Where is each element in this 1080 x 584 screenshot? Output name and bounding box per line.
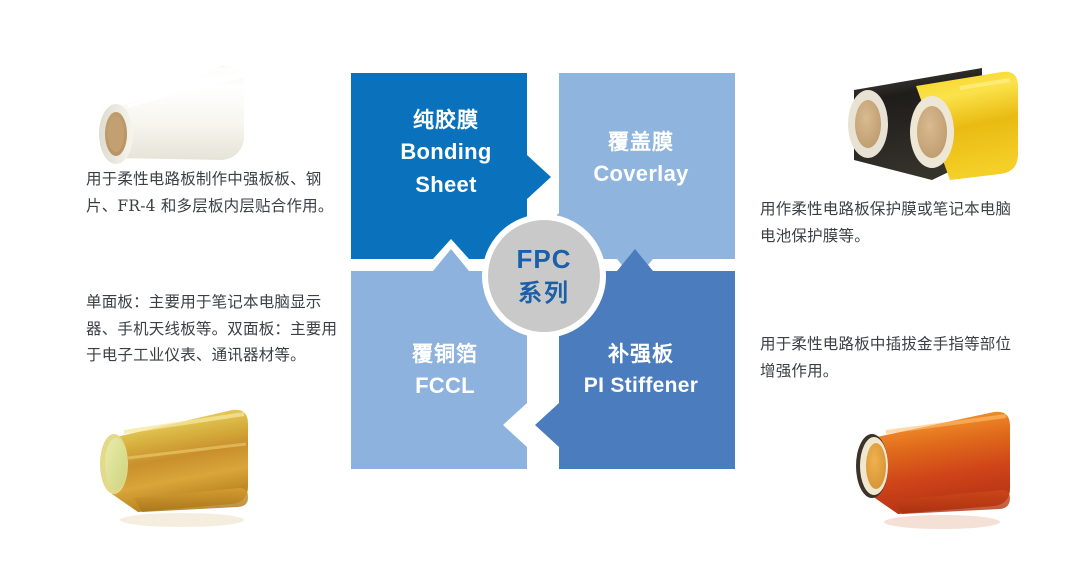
coverlay-product-photo — [832, 62, 1044, 186]
center-label-line1: FPC — [517, 244, 572, 276]
center-label-line2: 系列 — [518, 279, 570, 308]
description-pi-stiffener: 用于柔性电路板中插拔金手指等部位增强作用。 — [760, 331, 1012, 384]
description-bonding-sheet: 用于柔性电路板制作中强板板、钢片、FR-4 和多层板内层贴合作用。 — [86, 166, 336, 219]
pi-stiffener-product-photo — [836, 404, 1044, 544]
fpc-cycle-diagram: 纯胶膜 Bonding Sheet 覆盖膜 Coverlay 覆铜箔 FCCL … — [351, 73, 735, 469]
fpc-product-family-diagram: 纯胶膜 Bonding Sheet 覆盖膜 Coverlay 覆铜箔 FCCL … — [0, 0, 1080, 584]
description-fccl: 单面板：主要用于笔记本电脑显示器、手机天线板等。双面板：主要用于电子工业仪表、通… — [86, 289, 338, 369]
diagram-center-circle: FPC 系列 — [482, 214, 606, 338]
fccl-product-photo — [72, 402, 284, 542]
bonding-sheet-product-photo — [72, 62, 268, 170]
description-coverlay: 用作柔性电路板保护膜或笔记本电脑电池保护膜等。 — [760, 196, 1014, 249]
